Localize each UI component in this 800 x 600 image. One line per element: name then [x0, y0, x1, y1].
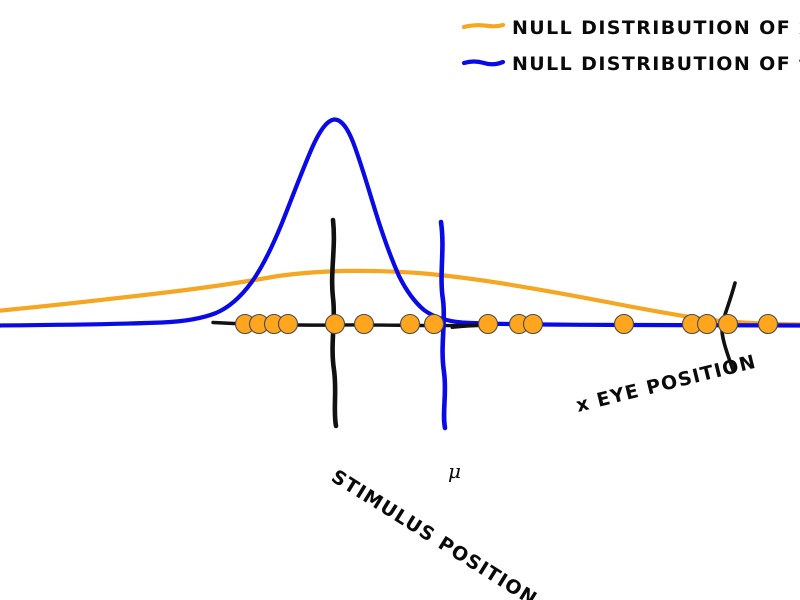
legend: NULL DISTRIBUTION OF x NULL DISTRIBUTION…: [464, 17, 800, 75]
null-distribution-t-curve: [0, 119, 800, 325]
data-point: [401, 315, 420, 334]
figure-canvas: NULL DISTRIBUTION OF x NULL DISTRIBUTION…: [0, 0, 800, 600]
data-point: [524, 315, 543, 334]
data-point: [479, 315, 498, 334]
data-point: [615, 315, 634, 334]
orange-line-swatch: [464, 25, 503, 27]
axis-label-eye-position: x EYE POSITION: [574, 351, 759, 417]
data-point: [425, 315, 444, 334]
legend-label-t: NULL DISTRIBUTION OF t: [512, 53, 800, 75]
data-point: [279, 315, 298, 334]
stimulus-position-label: STIMULUS POSITION: [327, 466, 541, 600]
mu-label: μ: [448, 459, 461, 483]
data-point: [698, 315, 717, 334]
data-point: [719, 315, 738, 334]
data-point: [355, 315, 374, 334]
diagram-svg: NULL DISTRIBUTION OF x NULL DISTRIBUTION…: [0, 0, 800, 600]
data-point: [326, 315, 345, 334]
legend-entry-null-distribution-t: NULL DISTRIBUTION OF t: [464, 53, 800, 75]
legend-entry-null-distribution-x: NULL DISTRIBUTION OF x: [464, 17, 800, 39]
data-point: [759, 315, 778, 334]
legend-label-x: NULL DISTRIBUTION OF x: [512, 17, 800, 39]
blue-line-swatch: [464, 62, 503, 65]
